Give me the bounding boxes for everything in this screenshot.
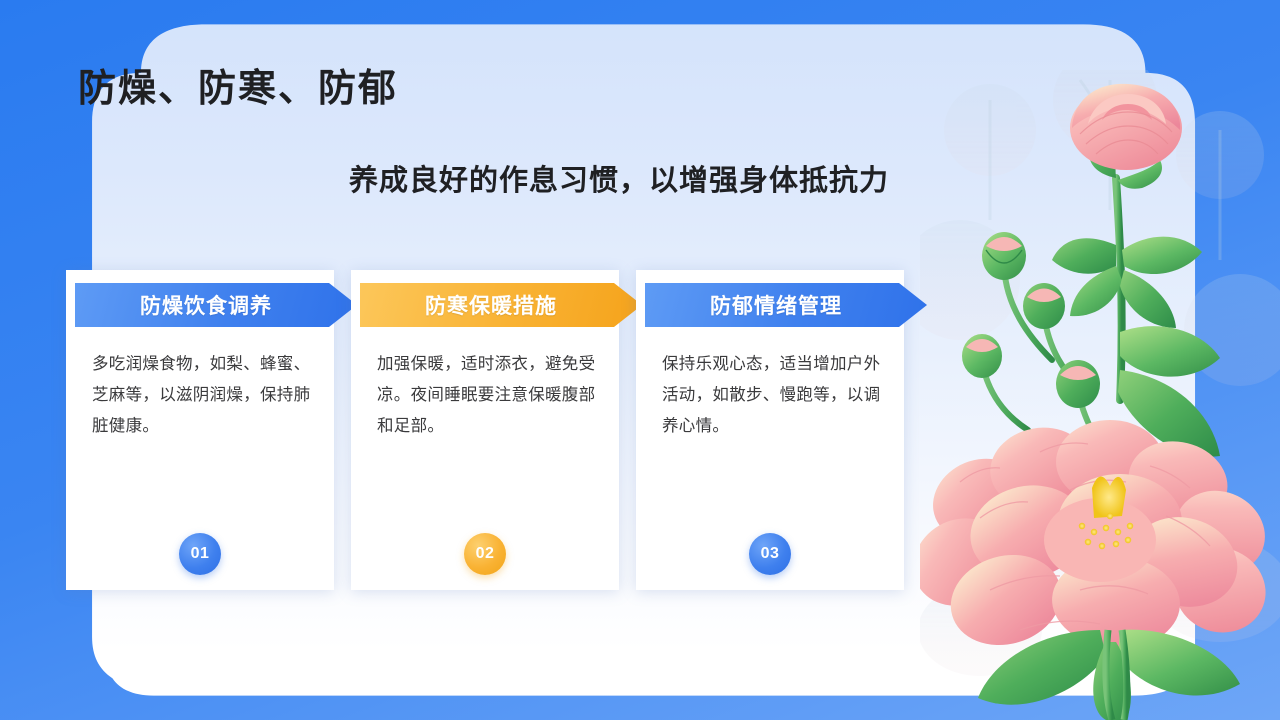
- card-1[interactable]: 防燥饮食调养 多吃润燥食物，如梨、蜂蜜、芝麻等，以滋阴润燥，保持肺脏健康。 01: [66, 270, 334, 590]
- card-3-badge: 03: [749, 533, 791, 575]
- card-3-banner: 防郁情绪管理: [645, 283, 927, 327]
- card-2[interactable]: 防寒保暖措施 加强保暖，适时添衣，避免受凉。夜间睡眠要注意保暖腹部和足部。 02: [351, 270, 619, 590]
- card-1-banner: 防燥饮食调养: [75, 283, 357, 327]
- card-1-badge: 01: [179, 533, 221, 575]
- card-2-body: 加强保暖，适时添衣，避免受凉。夜间睡眠要注意保暖腹部和足部。: [377, 348, 601, 441]
- page-title: 防燥、防寒、防郁: [78, 57, 398, 112]
- card-3-body: 保持乐观心态，适当增加户外活动，如散步、慢跑等，以调养心情。: [662, 348, 886, 441]
- card-2-banner: 防寒保暖措施: [360, 283, 642, 327]
- card-2-badge: 02: [464, 533, 506, 575]
- cards-row: 防燥饮食调养 多吃润燥食物，如梨、蜂蜜、芝麻等，以滋阴润燥，保持肺脏健康。 01…: [66, 270, 936, 590]
- page-subtitle: 养成良好的作息习惯，以增强身体抵抗力: [349, 157, 889, 199]
- card-3[interactable]: 防郁情绪管理 保持乐观心态，适当增加户外活动，如散步、慢跑等，以调养心情。 03: [636, 270, 904, 590]
- slide-canvas: 防燥、防寒、防郁 养成良好的作息习惯，以增强身体抵抗力 防燥饮食调养 多吃润燥食…: [0, 0, 1280, 720]
- card-1-body: 多吃润燥食物，如梨、蜂蜜、芝麻等，以滋阴润燥，保持肺脏健康。: [92, 348, 316, 441]
